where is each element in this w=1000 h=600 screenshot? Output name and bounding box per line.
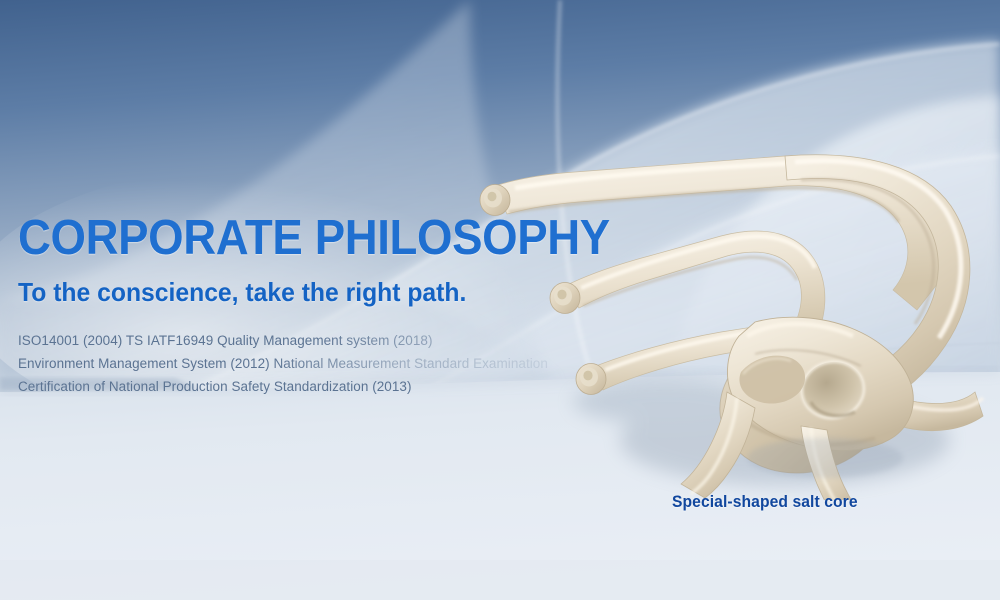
bottom-vignette bbox=[0, 560, 1000, 600]
product-caption: Special-shaped salt core bbox=[672, 492, 858, 512]
certification-line-2: Environment Management System (2012) Nat… bbox=[18, 352, 638, 375]
certification-line-3: Certification of National Production Saf… bbox=[18, 375, 638, 398]
text-block: CORPORATE PHILOSOPHY To the conscience, … bbox=[18, 214, 638, 398]
page-subtitle: To the conscience, take the right path. bbox=[18, 279, 607, 305]
certification-list: ISO14001 (2004) TS IATF16949 Quality Man… bbox=[18, 329, 638, 398]
disc-contact-shadow bbox=[747, 438, 903, 478]
page-title: CORPORATE PHILOSOPHY bbox=[18, 214, 595, 263]
corporate-philosophy-banner: CORPORATE PHILOSOPHY To the conscience, … bbox=[0, 0, 1000, 600]
certification-line-1: ISO14001 (2004) TS IATF16949 Quality Man… bbox=[18, 329, 638, 352]
